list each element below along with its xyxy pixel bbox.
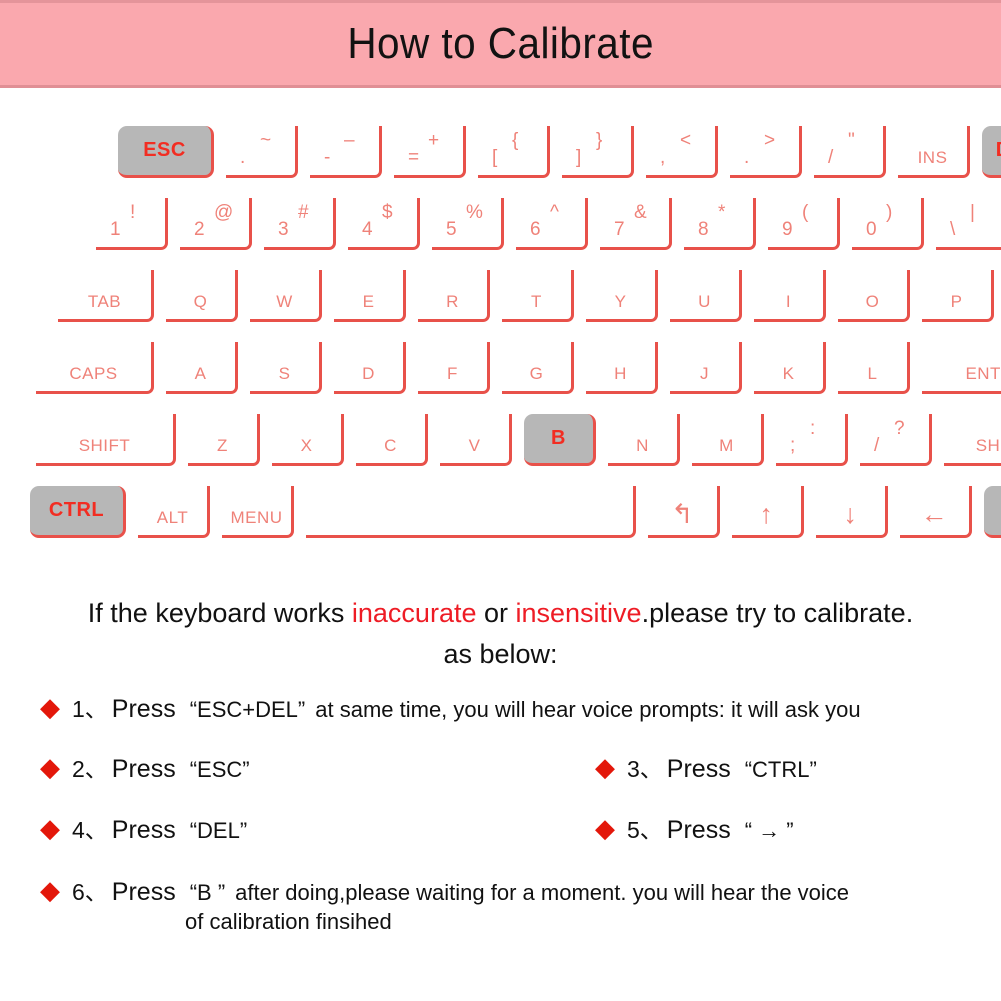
key-e[interactable]: E — [334, 270, 406, 322]
step-verb: Press — [667, 755, 731, 784]
key-label: T — [531, 292, 542, 312]
step-verb: Press — [112, 878, 176, 907]
key-label: U — [698, 292, 711, 312]
key-label: M — [719, 436, 734, 456]
key-arrow-down-key[interactable]: ↓ — [816, 486, 888, 538]
key-label: X — [301, 436, 313, 456]
key-i[interactable]: I — [754, 270, 826, 322]
key-label: SHIFT — [976, 436, 1001, 456]
key-legend-lower: 5 — [446, 219, 457, 241]
key-legend-lower: [ — [492, 147, 498, 169]
key-legend-lower: / — [874, 435, 880, 457]
step-bullet-icon: ◆ — [40, 752, 60, 783]
key-label: INS — [918, 148, 948, 168]
intro-part2: or — [476, 598, 515, 628]
key-ins[interactable]: INS — [898, 126, 970, 178]
keyboard-diagram: ESC.~-–=+[{]},<.>/"INSDEL1!2@3#4$5%6^7&8… — [0, 96, 1001, 566]
key-g[interactable]: G — [502, 342, 574, 394]
step-key-combo: “ → ” — [745, 818, 794, 844]
step-number: 5、 — [627, 811, 663, 845]
key-alt[interactable]: ALT — [138, 486, 210, 538]
key-arrow-left-key[interactable]: ← — [900, 486, 972, 538]
header-banner: How to Calibrate — [0, 0, 1001, 88]
key-digit-6[interactable]: 6^ — [516, 198, 588, 250]
key-m[interactable]: M — [692, 414, 764, 466]
key-legend-upper: % — [466, 202, 483, 224]
key-label: N — [636, 436, 649, 456]
step-key-combo: “DEL” — [190, 818, 247, 844]
key-digit-5[interactable]: 5% — [432, 198, 504, 250]
key-o[interactable]: O — [838, 270, 910, 322]
key-l[interactable]: L — [838, 342, 910, 394]
key-menu[interactable]: MENU — [222, 486, 294, 538]
step-key-combo: “ESC+DEL” — [190, 697, 306, 723]
step-bullet-icon: ◆ — [40, 692, 60, 723]
key-legend-lower: ; — [790, 435, 796, 457]
key-v[interactable]: V — [440, 414, 512, 466]
key-legend-lower: / — [828, 147, 834, 169]
key-legend-upper: – — [344, 130, 355, 152]
key-q[interactable]: Q — [166, 270, 238, 322]
key-legend-upper: < — [680, 130, 692, 152]
key-legend-lower: 6 — [530, 219, 541, 241]
key-comma[interactable]: ,< — [646, 126, 718, 178]
key-y[interactable]: Y — [586, 270, 658, 322]
step-description: after doing,please waiting for a moment.… — [235, 880, 849, 906]
key-legend-lower: 2 — [194, 219, 205, 241]
key-label: Q — [194, 292, 208, 312]
step-1: ◆1、Press“ESC+DEL”at same time, you will … — [40, 690, 861, 724]
key-space[interactable] — [306, 486, 636, 538]
key-legend-lower: - — [324, 147, 331, 169]
key-arrow-right-key[interactable]: → — [984, 486, 1001, 538]
key-n[interactable]: N — [608, 414, 680, 466]
keyboard-row-home-row: CAPSASDFGHJKLENTER — [36, 342, 1001, 394]
key-legend-upper: | — [970, 202, 975, 224]
step-verb: Press — [667, 816, 731, 845]
intro-line2: as below: — [0, 639, 1001, 670]
key-r[interactable]: R — [418, 270, 490, 322]
key-w[interactable]: W — [250, 270, 322, 322]
key-s[interactable]: S — [250, 342, 322, 394]
key-label: V — [469, 436, 481, 456]
key-label: DEL — [996, 139, 1001, 162]
page-title: How to Calibrate — [347, 19, 654, 69]
key-legend-upper: + — [428, 130, 440, 152]
key-legend-upper: : — [810, 418, 816, 440]
step-5: ◆5、Press“ → ” — [595, 811, 804, 845]
step-verb: Press — [112, 755, 176, 784]
step-bullet-icon: ◆ — [40, 813, 60, 844]
keyboard-row-number-row: 1!2@3#4$5%6^7&8*9(0)\| — [96, 198, 1001, 250]
key-legend-lower: 9 — [782, 219, 793, 241]
key-label: CAPS — [69, 364, 117, 384]
key-u[interactable]: U — [670, 270, 742, 322]
key-legend-lower: 4 — [362, 219, 373, 241]
step-key-combo: “ESC” — [190, 757, 250, 783]
step-bullet-icon: ◆ — [595, 752, 615, 783]
key-digit-0[interactable]: 0) — [852, 198, 924, 250]
key-caps[interactable]: CAPS — [36, 342, 154, 394]
key-label: SHIFT — [79, 436, 131, 456]
step-number: 2、 — [72, 750, 108, 784]
step-number: 1、 — [72, 690, 108, 724]
key-f[interactable]: F — [418, 342, 490, 394]
key-label: Y — [615, 292, 627, 312]
key-label: ALT — [157, 508, 188, 528]
key-legend-lower: , — [660, 147, 666, 169]
step-2: ◆2、Press“ESC” — [40, 750, 260, 784]
arrow-down-key-icon: ↓ — [844, 501, 858, 528]
key-backslash[interactable]: \| — [936, 198, 1001, 250]
key-label: ENTER — [965, 364, 1001, 384]
key-legend-lower: 8 — [698, 219, 709, 241]
key-bracket-left[interactable]: [{ — [478, 126, 550, 178]
key-arrow-up-key[interactable]: ↑ — [732, 486, 804, 538]
key-legend-lower: 1 — [110, 219, 121, 241]
key-legend-upper: & — [634, 202, 647, 224]
key-bracket-right[interactable]: ]} — [562, 126, 634, 178]
key-label: B — [551, 427, 566, 450]
key-label: G — [530, 364, 544, 384]
step-key-combo: “B ” — [190, 880, 225, 906]
key-label: C — [384, 436, 397, 456]
key-legend-upper: ~ — [260, 130, 272, 152]
step-6-continuation: of calibration finsihed — [185, 909, 392, 935]
key-legend-lower: = — [408, 147, 420, 169]
key-slash2[interactable]: /? — [860, 414, 932, 466]
key-label: H — [614, 364, 627, 384]
key-digit-4[interactable]: 4$ — [348, 198, 420, 250]
key-equal[interactable]: =+ — [394, 126, 466, 178]
keyboard-row-shift-row: SHIFTZXCVBNM;:/?SHIFT — [36, 414, 1001, 466]
key-minus[interactable]: -– — [310, 126, 382, 178]
key-p[interactable]: P — [922, 270, 994, 322]
key-legend-upper: > — [764, 130, 776, 152]
key-legend-upper: @ — [214, 202, 234, 224]
step-4: ◆4、Press“DEL” — [40, 811, 257, 845]
key-label: O — [866, 292, 880, 312]
step-number: 3、 — [627, 750, 663, 784]
key-tab[interactable]: TAB — [58, 270, 154, 322]
key-ctrl[interactable]: CTRL — [30, 486, 126, 538]
key-digit-1[interactable]: 1! — [96, 198, 168, 250]
key-legend-lower: \ — [950, 219, 956, 241]
key-legend-lower: 7 — [614, 219, 625, 241]
key-digit-9[interactable]: 9( — [768, 198, 840, 250]
intro-text: If the keyboard works inaccurate or inse… — [0, 592, 1001, 634]
key-d[interactable]: D — [334, 342, 406, 394]
key-legend-lower: ] — [576, 147, 582, 169]
step-bullet-icon: ◆ — [40, 875, 60, 906]
key-del[interactable]: DEL — [982, 126, 1001, 178]
key-legend-upper: $ — [382, 202, 393, 224]
key-z[interactable]: Z — [188, 414, 260, 466]
key-digit-2[interactable]: 2@ — [180, 198, 252, 250]
key-t[interactable]: T — [502, 270, 574, 322]
key-label: A — [195, 364, 207, 384]
arrow-up-key-icon: ↑ — [760, 501, 774, 528]
key-legend-upper: ? — [894, 418, 905, 440]
key-h[interactable]: H — [586, 342, 658, 394]
key-x[interactable]: X — [272, 414, 344, 466]
keyboard-row-qwerty-row: TABQWERTYUIOP\| — [58, 270, 1001, 322]
key-legend-lower: . — [240, 147, 246, 169]
key-label: W — [276, 292, 293, 312]
key-a[interactable]: A — [166, 342, 238, 394]
key-period[interactable]: .> — [730, 126, 802, 178]
key-label: CTRL — [49, 499, 104, 522]
key-label: F — [447, 364, 458, 384]
key-label: ESC — [143, 139, 186, 162]
key-label: L — [868, 364, 878, 384]
step-bullet-icon: ◆ — [595, 813, 615, 844]
key-legend-lower: 3 — [278, 219, 289, 241]
key-grave[interactable]: .~ — [226, 126, 298, 178]
key-label: D — [362, 364, 375, 384]
keyboard-row-function-row: ESC.~-–=+[{]},<.>/"INSDEL — [118, 126, 1001, 178]
key-semicolon[interactable]: ;: — [776, 414, 848, 466]
keyboard-row-bottom-row: CTRLALTMENU↰↑↓←→ — [30, 486, 1001, 538]
key-legend-lower: 0 — [866, 219, 877, 241]
step-key-combo: “CTRL” — [745, 757, 817, 783]
key-shift-right[interactable]: SHIFT — [944, 414, 1001, 466]
key-label: I — [786, 292, 791, 312]
key-legend-upper: ) — [886, 202, 893, 224]
key-legend-upper: ( — [802, 202, 809, 224]
key-esc[interactable]: ESC — [118, 126, 214, 178]
key-b[interactable]: B — [524, 414, 596, 466]
key-label: E — [363, 292, 375, 312]
step-3: ◆3、Press“CTRL” — [595, 750, 827, 784]
key-legend-lower: . — [744, 147, 750, 169]
key-label: J — [700, 364, 709, 384]
key-digit-3[interactable]: 3# — [264, 198, 336, 250]
intro-part1: If the keyboard works — [88, 598, 352, 628]
key-legend-upper: ! — [130, 202, 136, 224]
key-label: TAB — [88, 292, 121, 312]
key-c[interactable]: C — [356, 414, 428, 466]
key-legend-upper: * — [718, 202, 726, 224]
step-verb: Press — [112, 816, 176, 845]
key-digit-8[interactable]: 8* — [684, 198, 756, 250]
intro-part3: .please try to calibrate. — [642, 598, 914, 628]
intro-red-inaccurate: inaccurate — [352, 598, 477, 628]
key-label: S — [279, 364, 291, 384]
step-number: 4、 — [72, 811, 108, 845]
key-legend-upper: " — [848, 130, 855, 152]
key-label: MENU — [230, 508, 282, 528]
cursor-pointer-icon: ↰ — [671, 501, 694, 528]
key-slash[interactable]: /" — [814, 126, 886, 178]
intro-red-insensitive: insensitive — [516, 598, 642, 628]
step-number: 6、 — [72, 873, 108, 907]
key-legend-upper: ^ — [550, 202, 559, 224]
key-legend-upper: { — [512, 130, 519, 152]
key-j[interactable]: J — [670, 342, 742, 394]
key-legend-upper: # — [298, 202, 309, 224]
key-shift-left[interactable]: SHIFT — [36, 414, 176, 466]
key-legend-upper: } — [596, 130, 603, 152]
step-description: at same time, you will hear voice prompt… — [315, 697, 860, 723]
key-label: K — [783, 364, 795, 384]
key-enter[interactable]: ENTER — [922, 342, 1001, 394]
key-digit-7[interactable]: 7& — [600, 198, 672, 250]
key-label: Z — [217, 436, 228, 456]
arrow-left-key-icon: ← — [921, 501, 949, 528]
step-verb: Press — [112, 695, 176, 724]
key-mouse-pointer-icon[interactable]: ↰ — [648, 486, 720, 538]
key-label: P — [951, 292, 963, 312]
step-6: ◆6、Press“B ”after doing,please waiting f… — [40, 873, 849, 907]
key-k[interactable]: K — [754, 342, 826, 394]
key-label: R — [446, 292, 459, 312]
